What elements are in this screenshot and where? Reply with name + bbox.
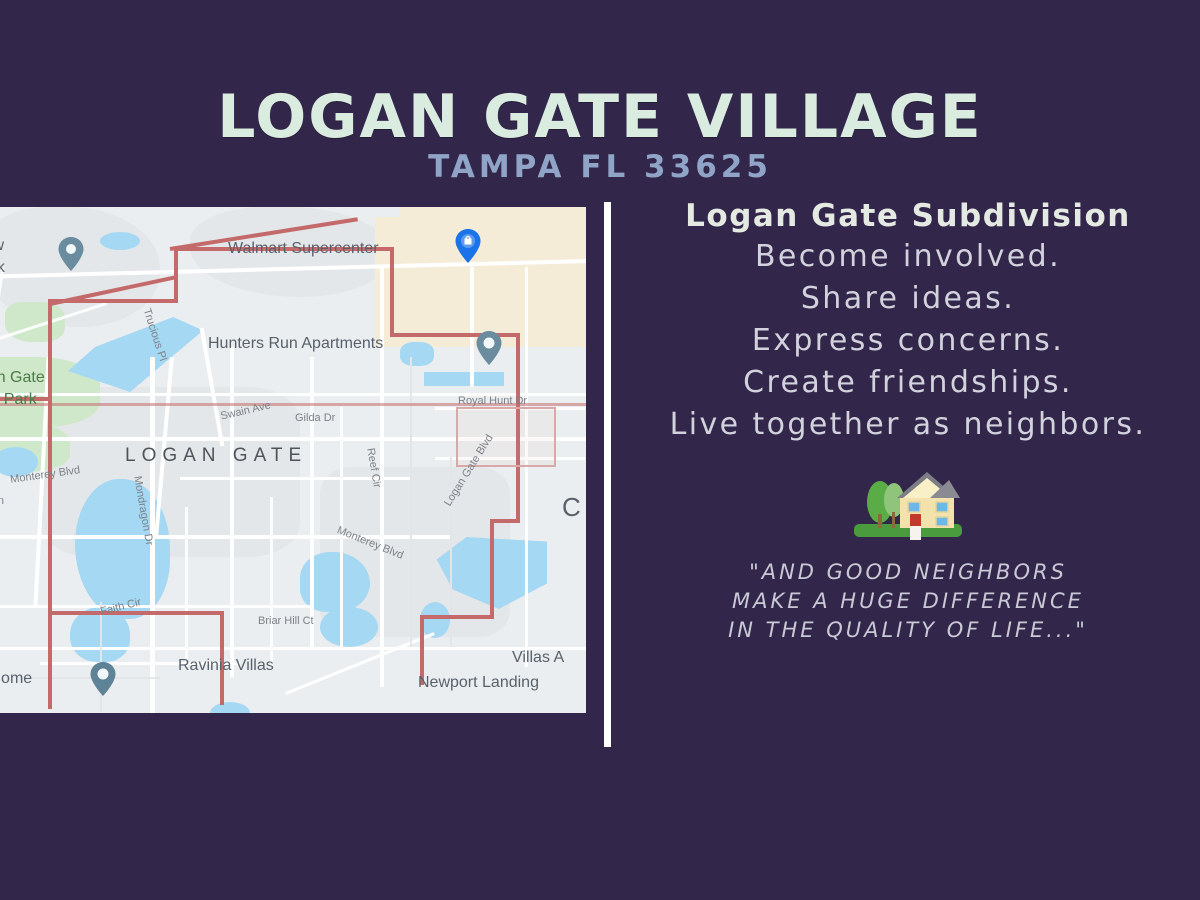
map-road <box>470 267 474 387</box>
quote-line-2: make a huge difference <box>608 587 1200 616</box>
boundary-segment <box>490 519 520 523</box>
water-body <box>320 607 378 647</box>
map-road <box>525 267 528 667</box>
boundary-segment <box>48 299 52 709</box>
map-label-newport-landing: Newport Landing <box>418 674 539 692</box>
map-road <box>310 357 314 647</box>
boundary-segment <box>48 611 224 615</box>
poster-canvas: Logan Gate Village Tampa FL 33625 <box>0 0 1200 900</box>
boundary-segment <box>390 247 394 337</box>
water-body <box>424 372 504 386</box>
map-street-briar-hill-ct: Briar Hill Ct <box>258 615 314 627</box>
apartment-pin-icon[interactable] <box>476 331 502 365</box>
info-panel: Logan Gate Subdivision Become involved. … <box>608 196 1200 756</box>
map-street-gilda-dr: Gilda Dr <box>295 412 335 424</box>
boundary-segment <box>420 615 494 619</box>
map-image[interactable]: viewPark Walmart Supercenter Hunters Run… <box>0 207 586 713</box>
panel-line-share-ideas: Share ideas. <box>608 278 1200 320</box>
water-body <box>100 232 140 250</box>
map-road-minor <box>270 497 273 667</box>
water-body <box>210 702 250 713</box>
panel-line-create-friendships: Create friendships. <box>608 362 1200 404</box>
quote-line-1: "And good neighbors <box>608 558 1200 587</box>
map-road <box>0 647 586 650</box>
map-canvas: viewPark Walmart Supercenter Hunters Run… <box>0 207 586 713</box>
map-label-hunters-run-apartments: Hunters Run Apartments <box>208 335 383 353</box>
panel-heading: Logan Gate Subdivision <box>608 196 1200 236</box>
panel-line-express-concerns: Express concerns. <box>608 320 1200 362</box>
map-road-thin <box>410 357 412 647</box>
water-body <box>75 479 170 619</box>
map-road <box>230 347 234 677</box>
quote-line-3: in the quality of life..." <box>608 616 1200 645</box>
house-with-garden-icon <box>848 458 968 542</box>
commercial-area <box>400 207 586 229</box>
park-pin-icon[interactable] <box>58 237 84 271</box>
map-road-minor <box>185 507 188 667</box>
map-label-ravinia-villas: Ravinia Villas <box>178 657 274 675</box>
map-label-c: C <box>562 492 581 523</box>
quote-block: "And good neighbors make a huge differen… <box>608 558 1200 645</box>
page-title: Logan Gate Village <box>0 86 1200 148</box>
map-street-nia-ln: nia Ln <box>0 495 4 507</box>
map-road <box>0 605 310 608</box>
map-label-lakeview-park: viewPark <box>0 235 5 279</box>
map-street-royal-hunt-dr: Royal Hunt Dr <box>458 395 527 407</box>
map-label-walmart-supercenter: Walmart Supercenter <box>228 240 379 258</box>
title-block: Logan Gate Village Tampa FL 33625 <box>0 86 1200 184</box>
map-label-logan-gate-dog-park: ogan GateDog Park <box>0 367 45 411</box>
page-subtitle: Tampa FL 33625 <box>0 150 1200 184</box>
water-body <box>400 342 434 366</box>
map-label-logan-gate-area: LOGAN GATE <box>125 445 307 467</box>
park-area <box>5 302 65 342</box>
panel-line-live-together: Live together as neighbors. <box>608 404 1200 446</box>
boundary-segment <box>490 519 494 619</box>
panel-line-become-involved: Become involved. <box>608 236 1200 278</box>
home-pin-icon[interactable] <box>90 662 116 696</box>
shopping-pin-icon[interactable] <box>455 229 481 263</box>
map-label-villas-a: Villas A <box>512 649 564 667</box>
map-label-home: 's Home <box>0 670 32 688</box>
water-body <box>420 602 450 638</box>
